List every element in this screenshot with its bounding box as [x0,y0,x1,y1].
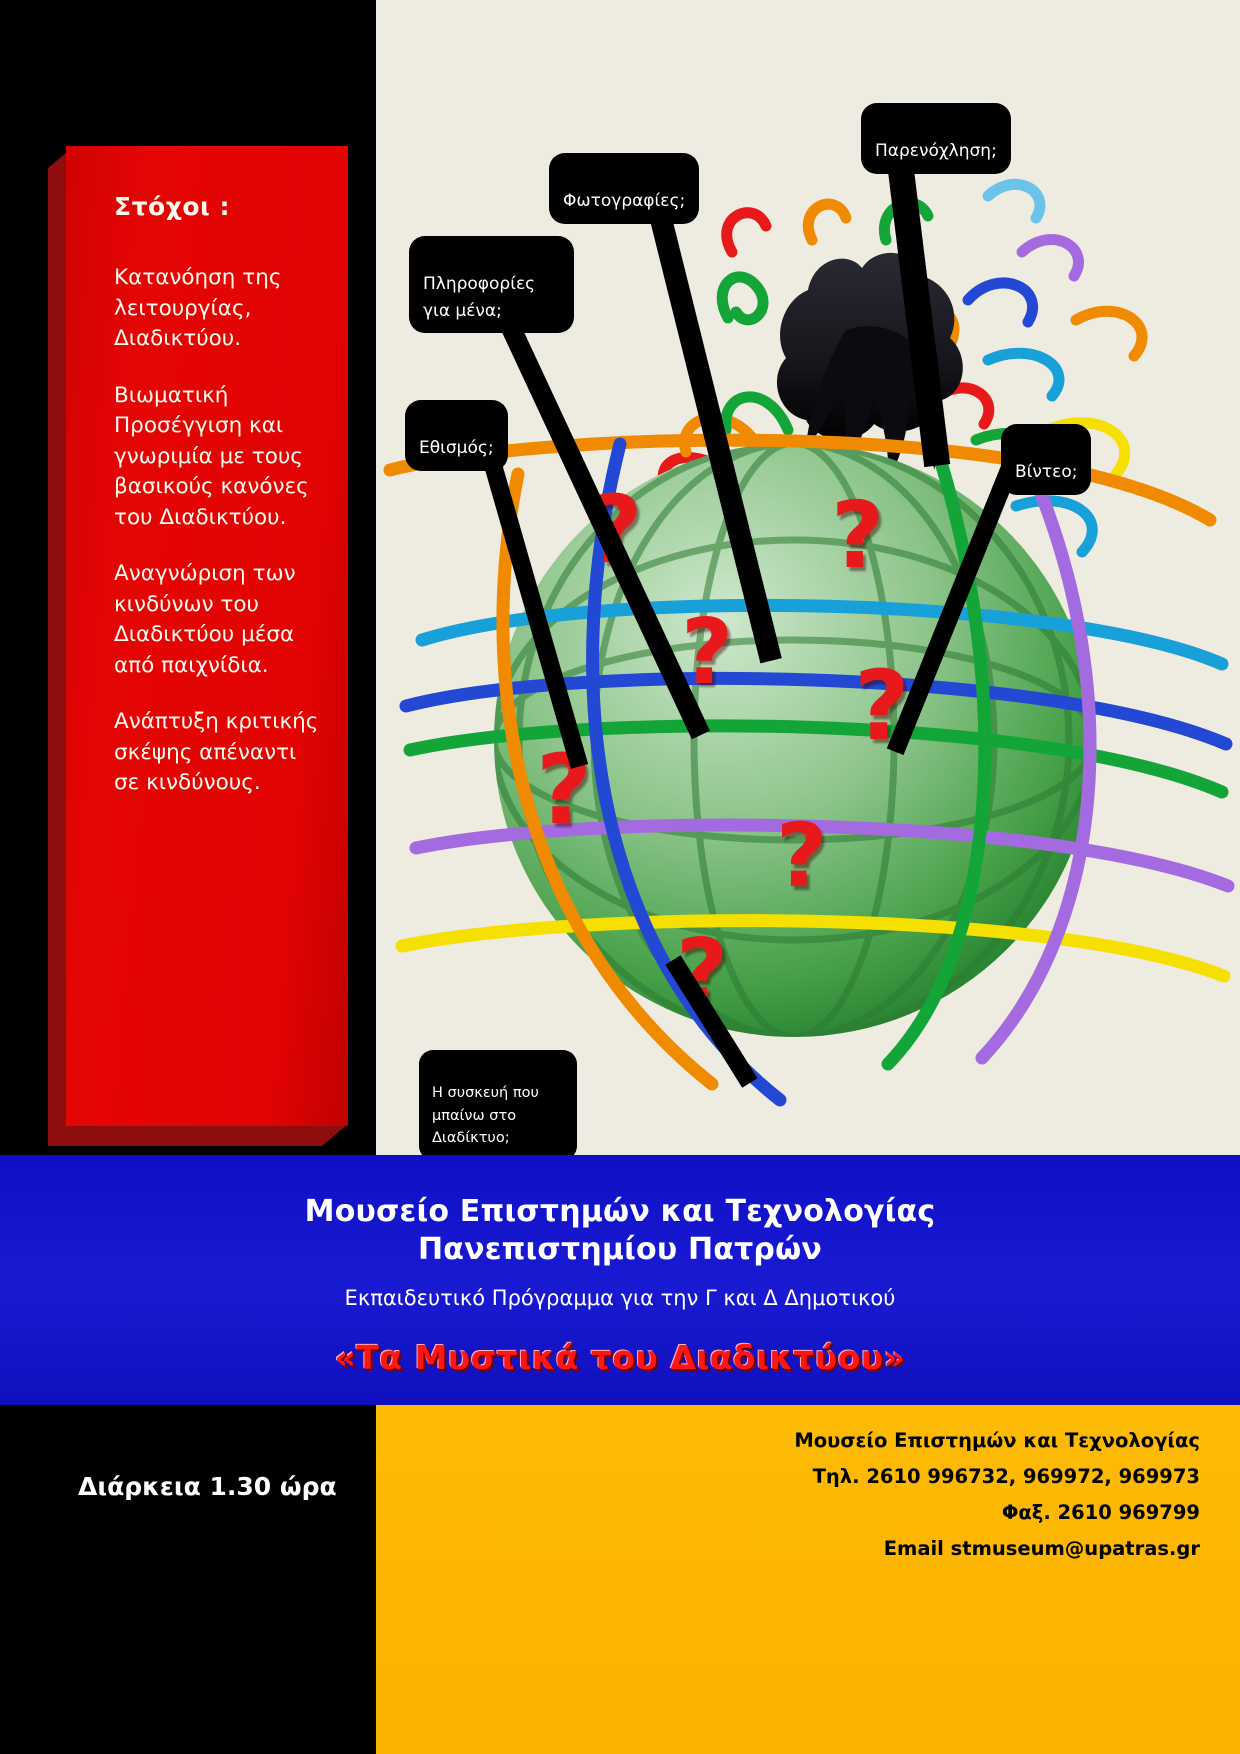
museum-title-line1: Μουσείο Επιστημών και Τεχνολογίας [305,1194,936,1229]
bubble-addiction[interactable]: Εθισμός; [405,400,508,471]
museum-title-line2: Πανεπιστημίου Πατρών [418,1232,822,1267]
objectives-panel: Στόχοι : Κατανόηση της λειτουργίας, Διαδ… [66,146,348,1126]
duration-label: Διάρκεια 1.30 ώρα [78,1472,337,1501]
museum-title: Μουσείο Επιστημών και Τεχνολογίας Πανεπι… [0,1155,1240,1270]
globe-illustration: ? ? ? ? ? ? ? [376,0,1240,1155]
program-title: «Τα Μυστικά του Διαδικτύου» [0,1338,1240,1377]
bubble-info-about-me[interactable]: Πληροφορίες για μένα; [409,236,574,333]
bubble-label: Η συσκευή που μπαίνω στο Διαδίκτυο; [432,1085,539,1146]
contact-name: Μουσείο Επιστημών και Τεχνολογίας [794,1423,1200,1459]
objective-item: Αναγνώριση των κινδύνων του Διαδικτύου μ… [114,559,322,681]
contact-email: Email stmuseum@upatras.gr [794,1531,1200,1567]
objective-item: Κατανόηση της λειτουργίας, Διαδικτύου. [114,263,322,355]
contact-fax: Φαξ. 2610 969799 [794,1495,1200,1531]
bubble-harassment[interactable]: Παρενόχληση; [861,103,1011,174]
bubble-label: Πληροφορίες για μένα; [423,274,535,320]
contact-phone: Τηλ. 2610 996732, 969972, 969973 [794,1459,1200,1495]
question-mark: ? [681,608,733,698]
program-subtitle: Εκπαιδευτικό Πρόγραμμα για την Γ και Δ Δ… [0,1286,1240,1310]
globe-svg [376,0,1240,1155]
bubble-label: Φωτογραφίες; [563,191,685,211]
bubble-video[interactable]: Βίντεο; [1001,424,1091,495]
footer-blue-band: Μουσείο Επιστημών και Τεχνολογίας Πανεπι… [0,1155,1240,1405]
bubble-label: Βίντεο; [1015,462,1077,482]
poster-root: ? ? ? ? ? ? ? Παρενόχληση; Φωτογραφίες; … [0,0,1240,1754]
bubble-label: Παρενόχληση; [875,141,997,161]
bubble-label: Εθισμός; [419,438,494,458]
artwork-panel: ? ? ? ? ? ? ? Παρενόχληση; Φωτογραφίες; … [376,0,1240,1155]
bubble-device[interactable]: Η συσκευή που μπαίνω στο Διαδίκτυο; [419,1050,577,1155]
objective-item: Ανάπτυξη κριτικής σκέψης απέναντι σε κιν… [114,707,322,799]
bubble-photos[interactable]: Φωτογραφίες; [549,153,699,224]
objective-item: Βιωματική Προσέγγιση και γνωριμία με του… [114,381,322,534]
objectives-title: Στόχοι : [114,192,322,221]
contact-box: Μουσείο Επιστημών και Τεχνολογίας Τηλ. 2… [376,1405,1240,1754]
contact-details: Μουσείο Επιστημών και Τεχνολογίας Τηλ. 2… [794,1423,1200,1567]
question-mark: ? [776,812,827,900]
question-mark: ? [831,490,884,582]
